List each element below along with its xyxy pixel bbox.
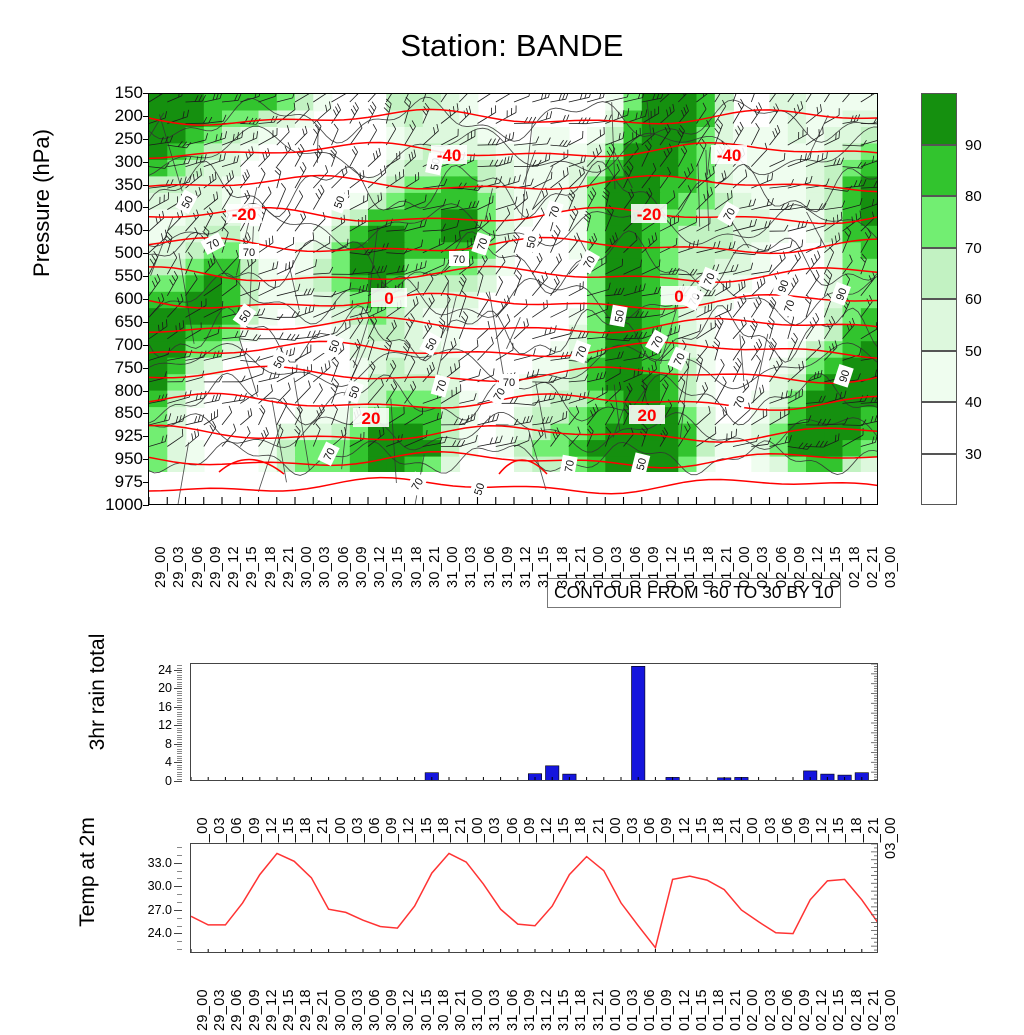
colorbar-cell xyxy=(921,145,957,197)
x-tick-label: 30_00 xyxy=(299,546,315,588)
x-tick-label: 02_15 xyxy=(828,546,844,588)
temp-minor-tick xyxy=(177,926,182,927)
rain-tick xyxy=(174,725,182,726)
temperature-line xyxy=(191,853,878,947)
pressure-tick xyxy=(143,391,149,392)
x-tick-label: 01_18 xyxy=(711,989,727,1031)
colorbar-tick-label: 30 xyxy=(965,447,982,462)
x-tick-label: 29_12 xyxy=(264,989,280,1031)
x-tick-label: 30_09 xyxy=(354,546,370,588)
pressure-tick-label: 450 xyxy=(115,221,143,238)
svg-text:-20: -20 xyxy=(232,205,257,224)
pressure-tick-label: 250 xyxy=(115,130,143,147)
rain-tick-label: 24 xyxy=(158,664,172,676)
temp-tick xyxy=(174,886,182,887)
rain-minor-tick xyxy=(177,705,182,706)
x-tick-label: 31_15 xyxy=(556,989,572,1031)
figure-root: Station: BANDE Pressure (hPa) 1502002503… xyxy=(0,0,1024,1024)
rain-minor-tick xyxy=(177,769,182,770)
x-tick-label: 01_00 xyxy=(591,546,607,588)
x-tick-label: 30_06 xyxy=(336,546,352,588)
pressure-tick-label: 350 xyxy=(115,176,143,193)
x-tick-label: 01_03 xyxy=(609,546,625,588)
rain-minor-tick xyxy=(177,753,182,754)
rain-minor-tick xyxy=(177,716,182,717)
pressure-tick-label: 1000 xyxy=(105,496,143,513)
x-tick-label: 30_21 xyxy=(427,546,443,588)
x-tick-label: 30_18 xyxy=(409,546,425,588)
x-tick-label: 31_12 xyxy=(518,546,534,588)
svg-text:20: 20 xyxy=(638,406,657,425)
x-tick-label: 30_06 xyxy=(367,989,383,1031)
pressure-tick xyxy=(143,368,149,369)
x-tick-label: 01_15 xyxy=(694,989,710,1031)
x-tick-label: 29_06 xyxy=(190,546,206,588)
x-tick-label: 02_21 xyxy=(865,546,881,588)
x-tick-label: 01_15 xyxy=(682,546,698,588)
x-tick-label: 30_12 xyxy=(401,989,417,1031)
rain-tick-label: 8 xyxy=(165,738,172,750)
x-tick-label: 29_15 xyxy=(281,989,297,1031)
svg-text:70: 70 xyxy=(243,247,255,259)
pressure-tick-label: 975 xyxy=(115,473,143,490)
x-tick-label: 31_12 xyxy=(539,989,555,1031)
rain-minor-tick xyxy=(177,719,182,720)
rain-minor-tick xyxy=(177,723,182,724)
temp-axis-labels: 24.027.030.033.0 xyxy=(110,843,182,953)
temp-tick-label: 30.0 xyxy=(148,880,172,892)
x-tick-label: 02_00 xyxy=(745,989,761,1031)
pressure-tick-label: 925 xyxy=(115,427,143,444)
pressure-tick xyxy=(143,162,149,163)
x-tick-label: 01_12 xyxy=(677,989,693,1031)
x-tick-label: 02_12 xyxy=(810,546,826,588)
x-tick-label: 31_00 xyxy=(445,546,461,588)
temp-tick xyxy=(174,933,182,934)
rain-tick-label: 20 xyxy=(158,682,172,694)
x-tick-label: 01_21 xyxy=(719,546,735,588)
temperature-line-chart xyxy=(190,843,878,953)
rain-minor-tick xyxy=(177,684,182,685)
rain-minor-tick xyxy=(177,765,182,766)
pressure-tick-label: 700 xyxy=(115,336,143,353)
svg-text:50: 50 xyxy=(613,309,627,323)
pressure-axis-labels: 1502002503003504004505005506006507007508… xyxy=(60,93,143,505)
pressure-tick-label: 550 xyxy=(115,267,143,284)
x-tick-label: 29_03 xyxy=(171,546,187,588)
rain-minor-tick xyxy=(177,712,182,713)
sounding-contour-plot: 5050505050705050707070705070707070507070… xyxy=(148,93,878,505)
rain-minor-tick xyxy=(177,749,182,750)
rain-tick xyxy=(174,707,182,708)
colorbar-tick-label: 50 xyxy=(965,344,982,359)
temp-svg xyxy=(191,844,878,953)
x-tick-label: 01_00 xyxy=(608,989,624,1031)
rain-minor-tick xyxy=(177,751,182,752)
x-tick-label: 01_06 xyxy=(628,546,644,588)
rain-bars xyxy=(425,666,868,781)
rain-right-ticks xyxy=(871,664,878,781)
x-tick-label: 02_06 xyxy=(780,989,796,1031)
x-tick-label: 02_15 xyxy=(831,989,847,1031)
x-tick-label: 31_03 xyxy=(487,989,503,1031)
rain-minor-tick xyxy=(177,774,182,775)
colorbar-cell xyxy=(921,93,957,145)
rain-minor-tick xyxy=(177,728,182,729)
rain-minor-tick xyxy=(177,672,182,673)
x-tick-label: 03_00 xyxy=(883,546,899,588)
temp-minor-tick xyxy=(177,894,182,895)
x-tick-label: 29_21 xyxy=(281,546,297,588)
pressure-axis-title: Pressure (hPa) xyxy=(29,83,55,323)
rain-tick xyxy=(174,781,182,782)
rain-minor-tick xyxy=(177,760,182,761)
rain-minor-tick xyxy=(177,693,182,694)
x-tick-label: 31_06 xyxy=(482,546,498,588)
pressure-tick-label: 850 xyxy=(115,404,143,421)
x-tick-label: 02_06 xyxy=(774,546,790,588)
x-tick-label: 29_12 xyxy=(226,546,242,588)
svg-text:50: 50 xyxy=(525,235,539,249)
rain-minor-tick xyxy=(177,677,182,678)
svg-text:-40: -40 xyxy=(437,146,462,165)
x-tick-label: 31_21 xyxy=(591,989,607,1031)
rain-minor-tick xyxy=(177,665,182,666)
rain-minor-tick xyxy=(177,730,182,731)
rain-bar-chart xyxy=(190,663,878,781)
x-tick-label: 29_03 xyxy=(212,989,228,1031)
x-tick-label: 31_18 xyxy=(573,989,589,1031)
colorbar-cell xyxy=(921,351,957,403)
humidity-colorbar: 90807060504030 xyxy=(921,93,957,505)
pressure-tick-label: 600 xyxy=(115,290,143,307)
temp-tick-label: 27.0 xyxy=(148,904,172,916)
x-tick-label: 03_00 xyxy=(883,817,899,859)
pressure-tick-label: 500 xyxy=(115,244,143,261)
x-tick-label: 02_03 xyxy=(763,989,779,1031)
svg-text:0: 0 xyxy=(384,289,393,308)
pressure-tick xyxy=(143,185,149,186)
x-tick-label: 30_00 xyxy=(333,989,349,1031)
rain-minor-tick xyxy=(177,737,182,738)
rain-tick xyxy=(174,670,182,671)
x-tick-label: 02_09 xyxy=(797,989,813,1031)
pressure-tick xyxy=(143,116,149,117)
rain-minor-tick xyxy=(177,700,182,701)
x-tick-label: 30_12 xyxy=(372,546,388,588)
pressure-tick-label: 950 xyxy=(115,450,143,467)
temp-x-ticks xyxy=(191,949,878,953)
pressure-tick xyxy=(143,207,149,208)
colorbar-cell xyxy=(921,454,957,506)
rain-tick xyxy=(174,744,182,745)
pressure-tick xyxy=(143,345,149,346)
x-tick-label: 31_09 xyxy=(500,546,516,588)
x-tick-label: 01_18 xyxy=(701,546,717,588)
x-tick-label: 02_18 xyxy=(847,546,863,588)
temp-minor-tick xyxy=(177,949,182,950)
x-tick-label: 30_09 xyxy=(384,989,400,1031)
pressure-tick-label: 200 xyxy=(115,107,143,124)
x-axis-labels-main: 29_0029_0329_0629_0929_1229_1529_1829_21… xyxy=(148,518,878,592)
rain-minor-tick xyxy=(177,691,182,692)
x-tick-label: 31_09 xyxy=(522,989,538,1031)
colorbar-tick-label: 40 xyxy=(965,395,982,410)
x-tick-label: 30_15 xyxy=(390,546,406,588)
rain-tick-label: 0 xyxy=(165,775,172,787)
x-tick-label: 02_12 xyxy=(814,989,830,1031)
x-tick-label: 31_03 xyxy=(463,546,479,588)
x-tick-label: 31_21 xyxy=(573,546,589,588)
temp-minor-tick xyxy=(177,878,182,879)
temp-tick xyxy=(174,863,182,864)
x-tick-label: 02_00 xyxy=(737,546,753,588)
rain-minor-tick xyxy=(177,709,182,710)
rain-minor-tick xyxy=(177,767,182,768)
pressure-tick xyxy=(143,482,149,483)
x-tick-label: 29_15 xyxy=(244,546,260,588)
temp-tick-label: 33.0 xyxy=(148,857,172,869)
rain-minor-tick xyxy=(177,772,182,773)
rain-axis-labels: 04812162024 xyxy=(120,663,182,781)
pressure-tick xyxy=(143,505,149,506)
pressure-tick-label: 150 xyxy=(115,84,143,101)
rain-minor-tick xyxy=(177,698,182,699)
x-tick-label: 29_09 xyxy=(247,989,263,1031)
temp-minor-tick xyxy=(177,918,182,919)
pressure-tick xyxy=(143,413,149,414)
colorbar-tick-label: 80 xyxy=(965,189,982,204)
temp-right-ticks xyxy=(871,844,878,953)
rain-minor-tick xyxy=(177,675,182,676)
rain-minor-tick xyxy=(177,668,182,669)
colorbar-tick-label: 90 xyxy=(965,138,982,153)
x-tick-label: 30_03 xyxy=(317,546,333,588)
pressure-tick xyxy=(143,93,149,94)
rain-tick-label: 4 xyxy=(165,756,172,768)
rain-minor-tick xyxy=(177,779,182,780)
rain-tick xyxy=(174,762,182,763)
x-tick-label: 01_03 xyxy=(625,989,641,1031)
svg-text:-20: -20 xyxy=(637,205,662,224)
colorbar-cell xyxy=(921,402,957,454)
x-tick-label: 02_03 xyxy=(755,546,771,588)
x-tick-label: 01_21 xyxy=(728,989,744,1031)
colorbar-cell xyxy=(921,299,957,351)
x-tick-label: 29_06 xyxy=(229,989,245,1031)
rain-x-ticks xyxy=(191,777,878,781)
pressure-tick-label: 750 xyxy=(115,359,143,376)
rain-minor-tick xyxy=(177,739,182,740)
x-tick-label: 01_09 xyxy=(646,546,662,588)
x-tick-label: 29_00 xyxy=(153,546,169,588)
x-tick-label: 30_21 xyxy=(453,989,469,1031)
x-tick-label: 29_09 xyxy=(208,546,224,588)
pressure-tick xyxy=(143,276,149,277)
colorbar-cell xyxy=(921,196,957,248)
pressure-tick xyxy=(143,230,149,231)
temp-minor-tick xyxy=(177,941,182,942)
x-tick-label: 31_18 xyxy=(555,546,571,588)
rain-minor-tick xyxy=(177,679,182,680)
rain-minor-tick xyxy=(177,686,182,687)
rain-minor-tick xyxy=(177,721,182,722)
x-tick-label: 30_03 xyxy=(350,989,366,1031)
pressure-tick xyxy=(143,139,149,140)
svg-text:-40: -40 xyxy=(717,146,742,165)
rain-tick xyxy=(174,688,182,689)
temp-tick xyxy=(174,910,182,911)
rain-minor-tick xyxy=(177,735,182,736)
pressure-tick xyxy=(143,436,149,437)
x-tick-label: 29_18 xyxy=(263,546,279,588)
pressure-tick xyxy=(143,299,149,300)
x-tick-label: 02_09 xyxy=(792,546,808,588)
temp-minor-tick xyxy=(177,847,182,848)
svg-text:70: 70 xyxy=(563,459,577,473)
x-tick-label: 01_06 xyxy=(642,989,658,1031)
pressure-tick-label: 650 xyxy=(115,313,143,330)
page-title: Station: BANDE xyxy=(0,28,1024,64)
x-tick-label: 30_15 xyxy=(419,989,435,1031)
x-tick-label: 31_00 xyxy=(470,989,486,1031)
rain-minor-tick xyxy=(177,695,182,696)
x-tick-label: 29_21 xyxy=(315,989,331,1031)
rain-svg xyxy=(191,664,878,781)
pressure-tick-label: 400 xyxy=(115,198,143,215)
rain-tick-label: 12 xyxy=(158,719,172,731)
rain-minor-tick xyxy=(177,776,182,777)
rain-minor-tick xyxy=(177,682,182,683)
svg-text:20: 20 xyxy=(362,409,381,428)
colorbar-tick-label: 70 xyxy=(965,241,982,256)
rain-minor-tick xyxy=(177,702,182,703)
colorbar-cell xyxy=(921,248,957,300)
x-tick-label: 02_18 xyxy=(849,989,865,1031)
rain-minor-tick xyxy=(177,746,182,747)
pressure-tick-label: 300 xyxy=(115,153,143,170)
temp-minor-tick xyxy=(177,871,182,872)
rain-minor-tick xyxy=(177,742,182,743)
pressure-tick xyxy=(143,253,149,254)
sounding-svg: 5050505050705050707070705070707070507070… xyxy=(149,94,878,505)
x-tick-label: 29_00 xyxy=(195,989,211,1031)
x-tick-label: 01_12 xyxy=(664,546,680,588)
rain-minor-tick xyxy=(177,714,182,715)
temp-tick-label: 24.0 xyxy=(148,927,172,939)
rain-minor-tick xyxy=(177,756,182,757)
temp-minor-tick xyxy=(177,855,182,856)
x-tick-label: 29_18 xyxy=(298,989,314,1031)
pressure-tick-label: 800 xyxy=(115,382,143,399)
pressure-tick xyxy=(143,322,149,323)
rain-tick-label: 16 xyxy=(158,701,172,713)
colorbar-tick-label: 60 xyxy=(965,292,982,307)
x-tick-label: 01_09 xyxy=(659,989,675,1031)
svg-text:0: 0 xyxy=(674,287,683,306)
rain-minor-tick xyxy=(177,758,182,759)
pressure-tick xyxy=(143,459,149,460)
x-tick-label: 31_15 xyxy=(536,546,552,588)
x-tick-label: 31_06 xyxy=(505,989,521,1031)
x-tick-label: 03_00 xyxy=(883,989,899,1031)
x-tick-label: 02_21 xyxy=(866,989,882,1031)
temp-axis-title: Temp at 2m xyxy=(76,762,100,982)
temp-minor-tick xyxy=(177,902,182,903)
rain-minor-tick xyxy=(177,732,182,733)
x-tick-label: 30_18 xyxy=(436,989,452,1031)
svg-text:70: 70 xyxy=(453,254,465,266)
